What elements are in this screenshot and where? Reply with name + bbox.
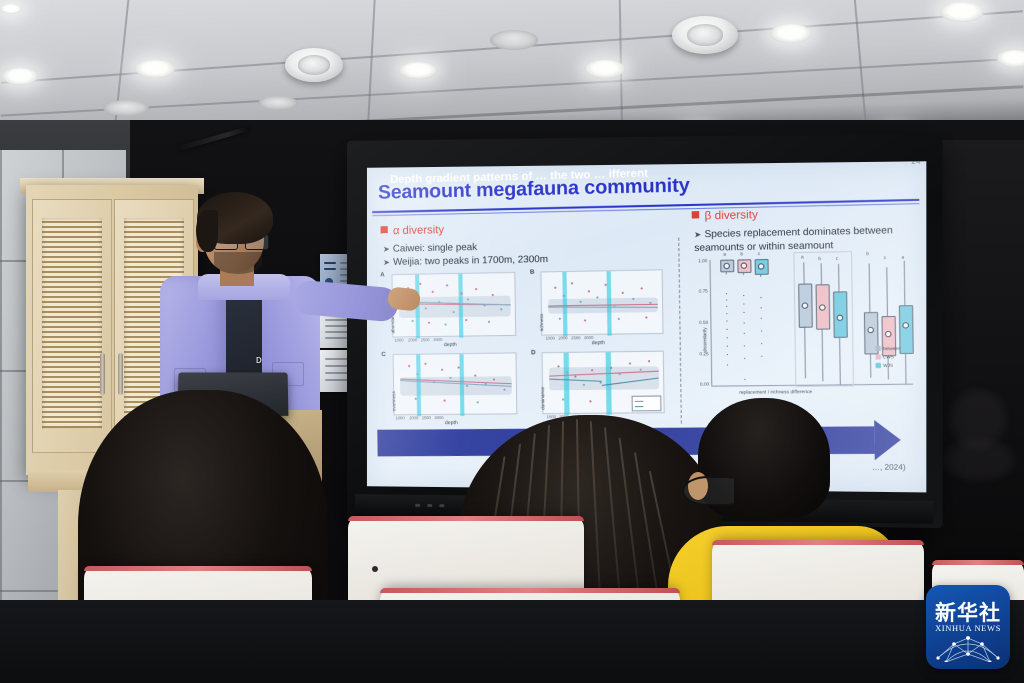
ceiling-light bbox=[135, 60, 175, 78]
panel-c-xlabel: depth bbox=[445, 420, 458, 426]
ceiling-light bbox=[0, 4, 22, 14]
panel-d-inset-legend bbox=[632, 395, 662, 411]
boxplot-ylabel: dissimilarity bbox=[702, 327, 708, 352]
sig-letter: c bbox=[758, 251, 760, 256]
chair-trim bbox=[380, 588, 680, 593]
arrow-bullet-icon: ➤ bbox=[383, 244, 390, 253]
panel-letter-b: B bbox=[530, 269, 535, 275]
boxplot-ytick: 1.00 bbox=[692, 258, 707, 264]
panel-c-ylabel: evenness bbox=[391, 391, 396, 411]
ceiling-light bbox=[940, 2, 984, 22]
boxplot-mean-marker bbox=[802, 302, 809, 308]
alpha-diversity-heading: α diversity bbox=[381, 224, 445, 238]
chair-trim bbox=[712, 540, 924, 545]
back-wall-right bbox=[930, 140, 1024, 570]
sig-letter: c bbox=[884, 255, 886, 260]
bullet-square-icon bbox=[381, 226, 388, 233]
panel-letter-c: C bbox=[381, 352, 386, 358]
chair-trim bbox=[84, 566, 312, 571]
boxplot-y-axis bbox=[709, 260, 712, 386]
smoke-detector-icon bbox=[285, 48, 343, 82]
air-vent-icon bbox=[103, 100, 149, 116]
boxplot-xlabel: replacement / richness difference bbox=[739, 389, 812, 395]
boxplot-mean-marker bbox=[867, 327, 874, 333]
boxplot-mean-marker bbox=[723, 263, 730, 269]
boxplot-legend-item: CWS bbox=[875, 354, 893, 360]
ceiling-light bbox=[997, 50, 1024, 67]
presenter-beard bbox=[214, 252, 262, 274]
boxplot-ytick: 0.50 bbox=[693, 320, 708, 325]
xinhua-news-watermark: 新华社 XINHUA NEWS bbox=[926, 585, 1010, 669]
boxplot-legend-item: WJS bbox=[876, 363, 893, 368]
chair-fastener bbox=[372, 566, 378, 572]
boxplot-legend-item: between bbox=[875, 346, 900, 352]
boxplot-ytick: 0.00 bbox=[694, 381, 709, 386]
boxplot-mean-marker bbox=[902, 322, 909, 328]
panel-c-xticks: 1000 2000 2500 3000 bbox=[395, 415, 443, 420]
presentation-photo-scene: 24 Seamount megafauna community α divers… bbox=[0, 0, 1024, 683]
network-globe-icon bbox=[934, 632, 1002, 662]
cabinet-handle-right[interactable] bbox=[118, 353, 123, 395]
alpha-diversity-chart: A abundance 1000 2000 2500 3000 depth bbox=[377, 265, 671, 426]
boxplot-box bbox=[899, 305, 914, 354]
air-vent-icon bbox=[258, 96, 298, 110]
panel-b-xlabel: depth bbox=[592, 340, 605, 346]
scatter-panel-d bbox=[542, 351, 665, 415]
panel-d-ylabel: dominance bbox=[540, 387, 546, 410]
ceiling-light bbox=[2, 68, 38, 85]
ceiling-light bbox=[770, 24, 812, 43]
slide-number: 24 bbox=[911, 161, 921, 166]
sig-letter: b bbox=[818, 256, 821, 261]
chair-trim bbox=[348, 516, 584, 521]
smoke-detector-icon bbox=[672, 16, 738, 54]
boxplot-mean-marker bbox=[819, 304, 826, 310]
sig-letter: a bbox=[801, 254, 804, 259]
arrow-bullet-icon: ➤ bbox=[694, 230, 701, 240]
bullet-square-icon bbox=[692, 211, 700, 218]
boxplot-mean-marker bbox=[758, 263, 765, 269]
boxplot-ytick: 0.75 bbox=[693, 288, 708, 293]
ceiling-light bbox=[585, 60, 625, 78]
ceiling-light bbox=[399, 62, 437, 79]
chair-trim bbox=[932, 560, 1024, 565]
cabinet-handle-left[interactable] bbox=[100, 353, 105, 395]
panel-letter-d: D bbox=[531, 350, 536, 356]
glasses-icon bbox=[682, 476, 734, 506]
boxplot-mean-marker bbox=[837, 315, 844, 321]
panel-a-xticks: 1000 2000 2500 3000 bbox=[394, 337, 442, 343]
air-vent-icon bbox=[490, 30, 538, 50]
beta-diversity-heading: β diversity bbox=[692, 209, 758, 223]
scatter-panel-b bbox=[540, 269, 663, 335]
arrow-bullet-icon: ➤ bbox=[383, 258, 390, 267]
sig-letter: b bbox=[866, 251, 869, 256]
presenter-hair-side bbox=[196, 210, 218, 252]
presenter-hand bbox=[387, 286, 421, 311]
sig-letter: c bbox=[836, 256, 838, 261]
panel-b-xticks: 1000 2000 2500 3000 bbox=[545, 335, 593, 341]
sig-letter: a bbox=[723, 251, 726, 256]
panel-b-ylabel: richness bbox=[539, 314, 544, 332]
sig-letter: a bbox=[901, 254, 904, 259]
sig-letter: b bbox=[740, 251, 743, 256]
floor bbox=[0, 600, 1024, 683]
boxplot-mean-marker bbox=[885, 331, 892, 337]
panel-letter-a: A bbox=[380, 272, 385, 278]
scatter-panel-c bbox=[393, 352, 518, 415]
section-divider bbox=[678, 238, 682, 424]
panel-a-xlabel: depth bbox=[444, 342, 457, 348]
